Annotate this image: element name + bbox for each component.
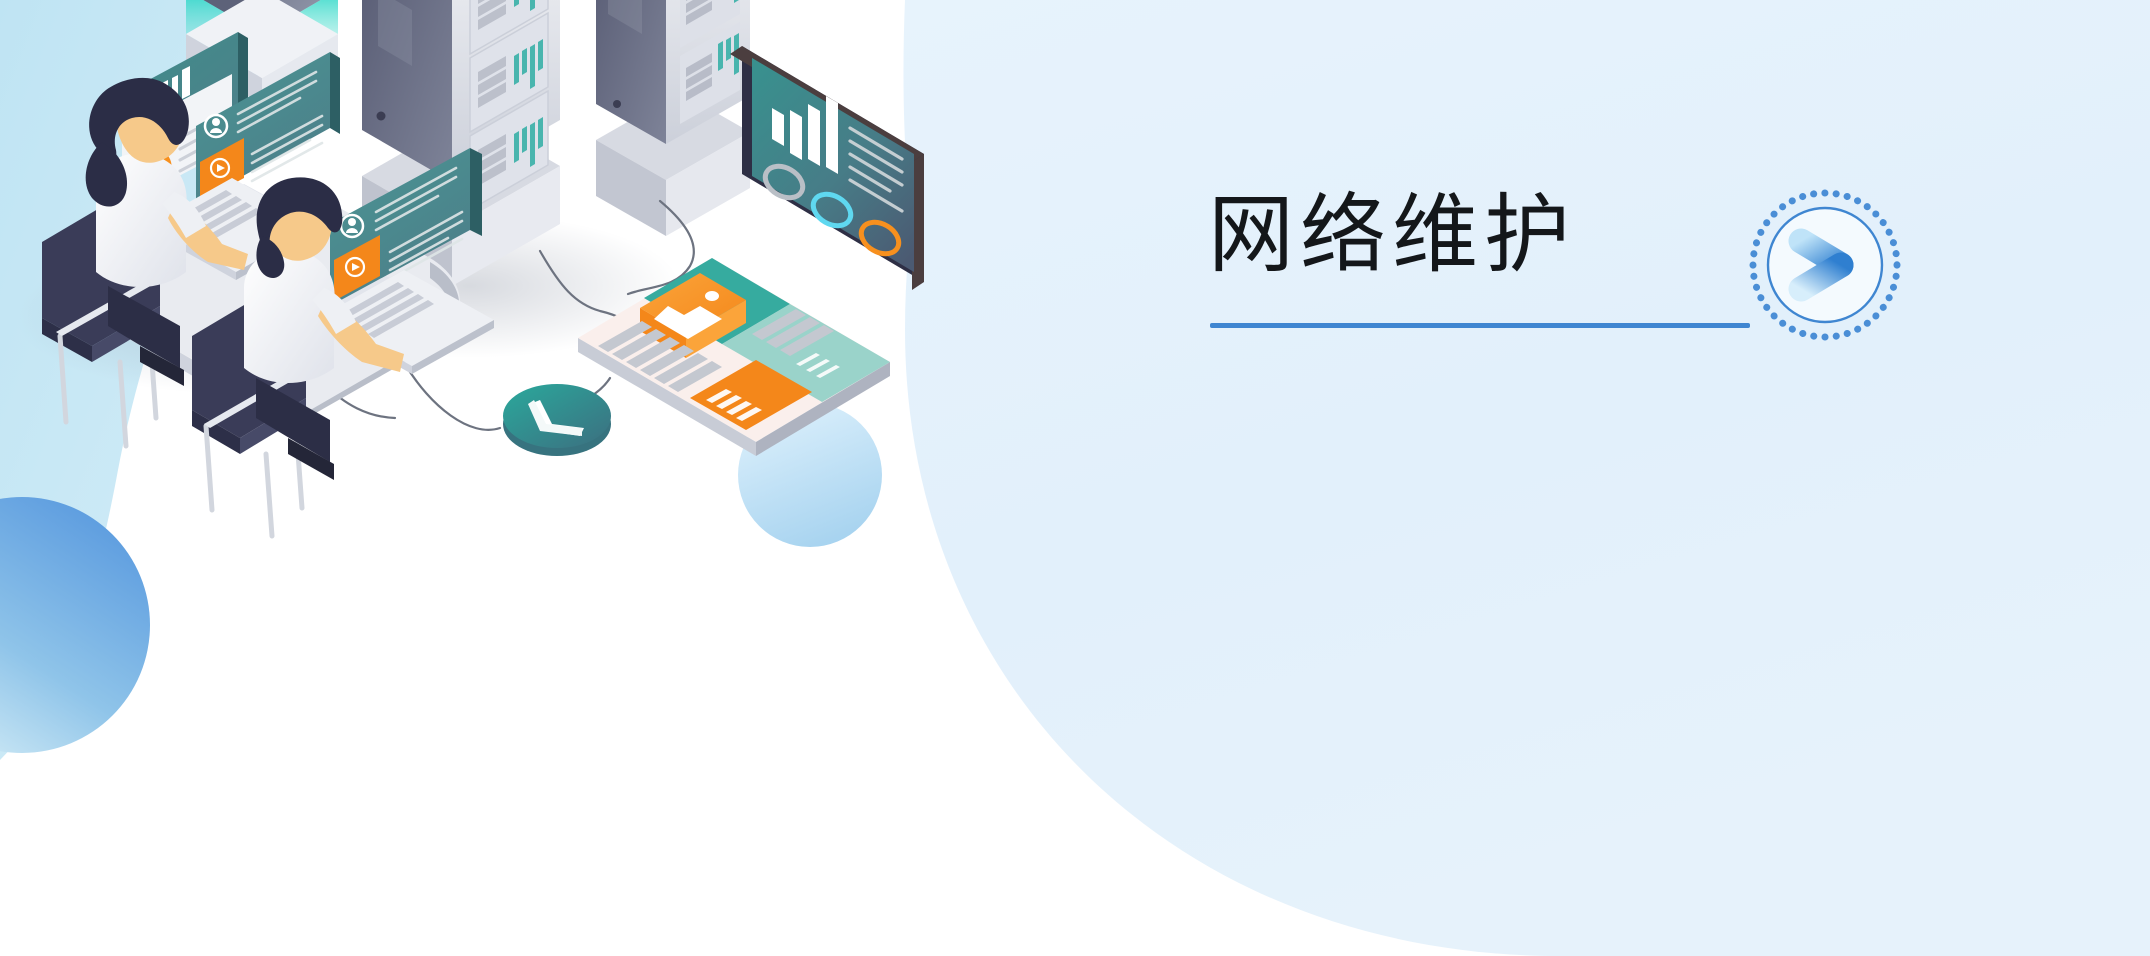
title-underline: [1210, 323, 1750, 328]
isometric-illustration: [0, 0, 960, 546]
tablet-dashboard: [730, 46, 924, 290]
chevron-arrow-logo[interactable]: [1745, 185, 1905, 345]
chevron-arrow-logo-svg[interactable]: [1745, 185, 1905, 345]
clock-disc: [503, 384, 611, 456]
background-panel-fill-right: [903, 0, 2150, 956]
hero-banner: 网络维护: [0, 0, 2150, 956]
